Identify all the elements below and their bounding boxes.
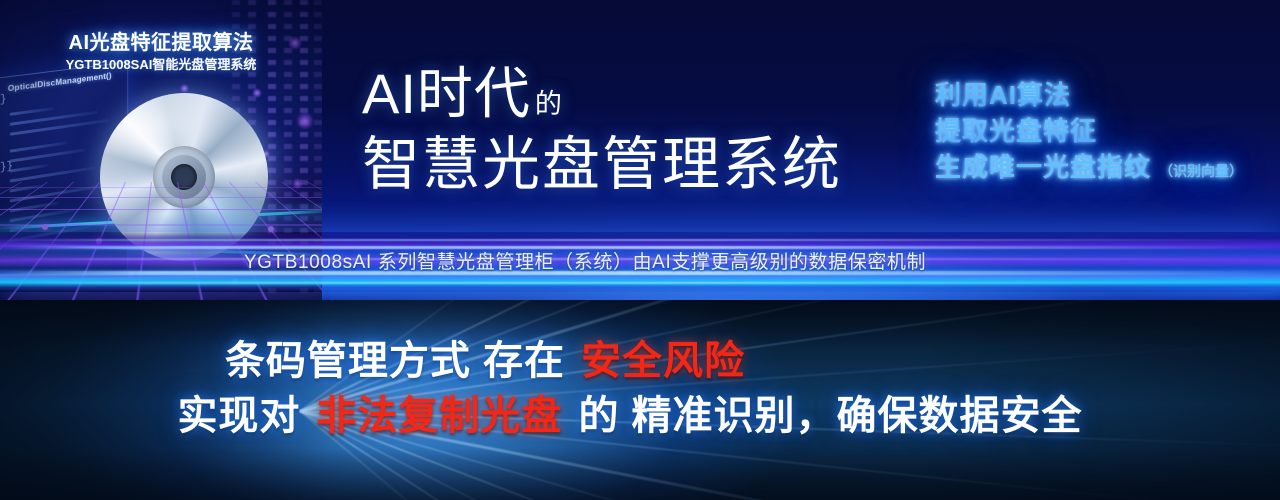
bottom-line-1-highlight: 安全风险 [581, 339, 745, 383]
bottom-line-2-part-1: 实现对 [177, 394, 300, 438]
bottom-line-2-highlight: 非法复制光盘 [316, 394, 562, 438]
main-headline: AI时代的 智慧光盘管理系统 [362, 66, 842, 194]
promo-banner: OpticalDiscManagement() } }} [0, 0, 1280, 500]
headline-line-1-main: AI时代 [362, 62, 531, 125]
subtitle-bar-text: YGTB1008sAI 系列智慧光盘管理柜（系统）由AI支撑更高级别的数据保密机… [0, 247, 1280, 274]
hero-panel-title: AI光盘特征提取算法 [0, 26, 322, 55]
bottom-copy-block: 条码管理方式 存在安全风险 实现对非法复制光盘的 精准识别，确保数据安全 [0, 338, 1280, 440]
bar-streak [0, 239, 1280, 241]
bottom-copy-line-1: 条码管理方式 存在安全风险 [0, 338, 1280, 385]
feature-item-2-text: 提取光盘特征 [935, 116, 1097, 146]
feature-item-1-text: 利用AI算法 [935, 80, 1071, 110]
headline-line-1-suffix: 的 [535, 89, 563, 119]
headline-line-1: AI时代的 [362, 66, 842, 122]
bar-streak [0, 282, 1280, 284]
hero-panel-subtitle: YGTB1008SAI智能光盘管理系统 [0, 54, 322, 73]
feature-list: 利用AI算法 提取光盘特征 生成唯一光盘指纹（识别向量） [935, 78, 1243, 186]
feature-item-3-note: （识别向量） [1159, 163, 1243, 179]
bottom-line-2-part-2: 的 精准识别，确保数据安全 [578, 394, 1082, 438]
feature-item-2: 提取光盘特征 [935, 114, 1243, 150]
feature-item-3-text: 生成唯一光盘指纹 [935, 152, 1151, 182]
bottom-line-1-part-1: 条码管理方式 存在 [225, 339, 565, 383]
headline-line-2: 智慧光盘管理系统 [362, 136, 842, 194]
bottom-copy-line-2: 实现对非法复制光盘的 精准识别，确保数据安全 [0, 393, 1280, 440]
feature-item-3: 生成唯一光盘指纹（识别向量） [935, 150, 1243, 186]
feature-item-1: 利用AI算法 [935, 78, 1243, 114]
